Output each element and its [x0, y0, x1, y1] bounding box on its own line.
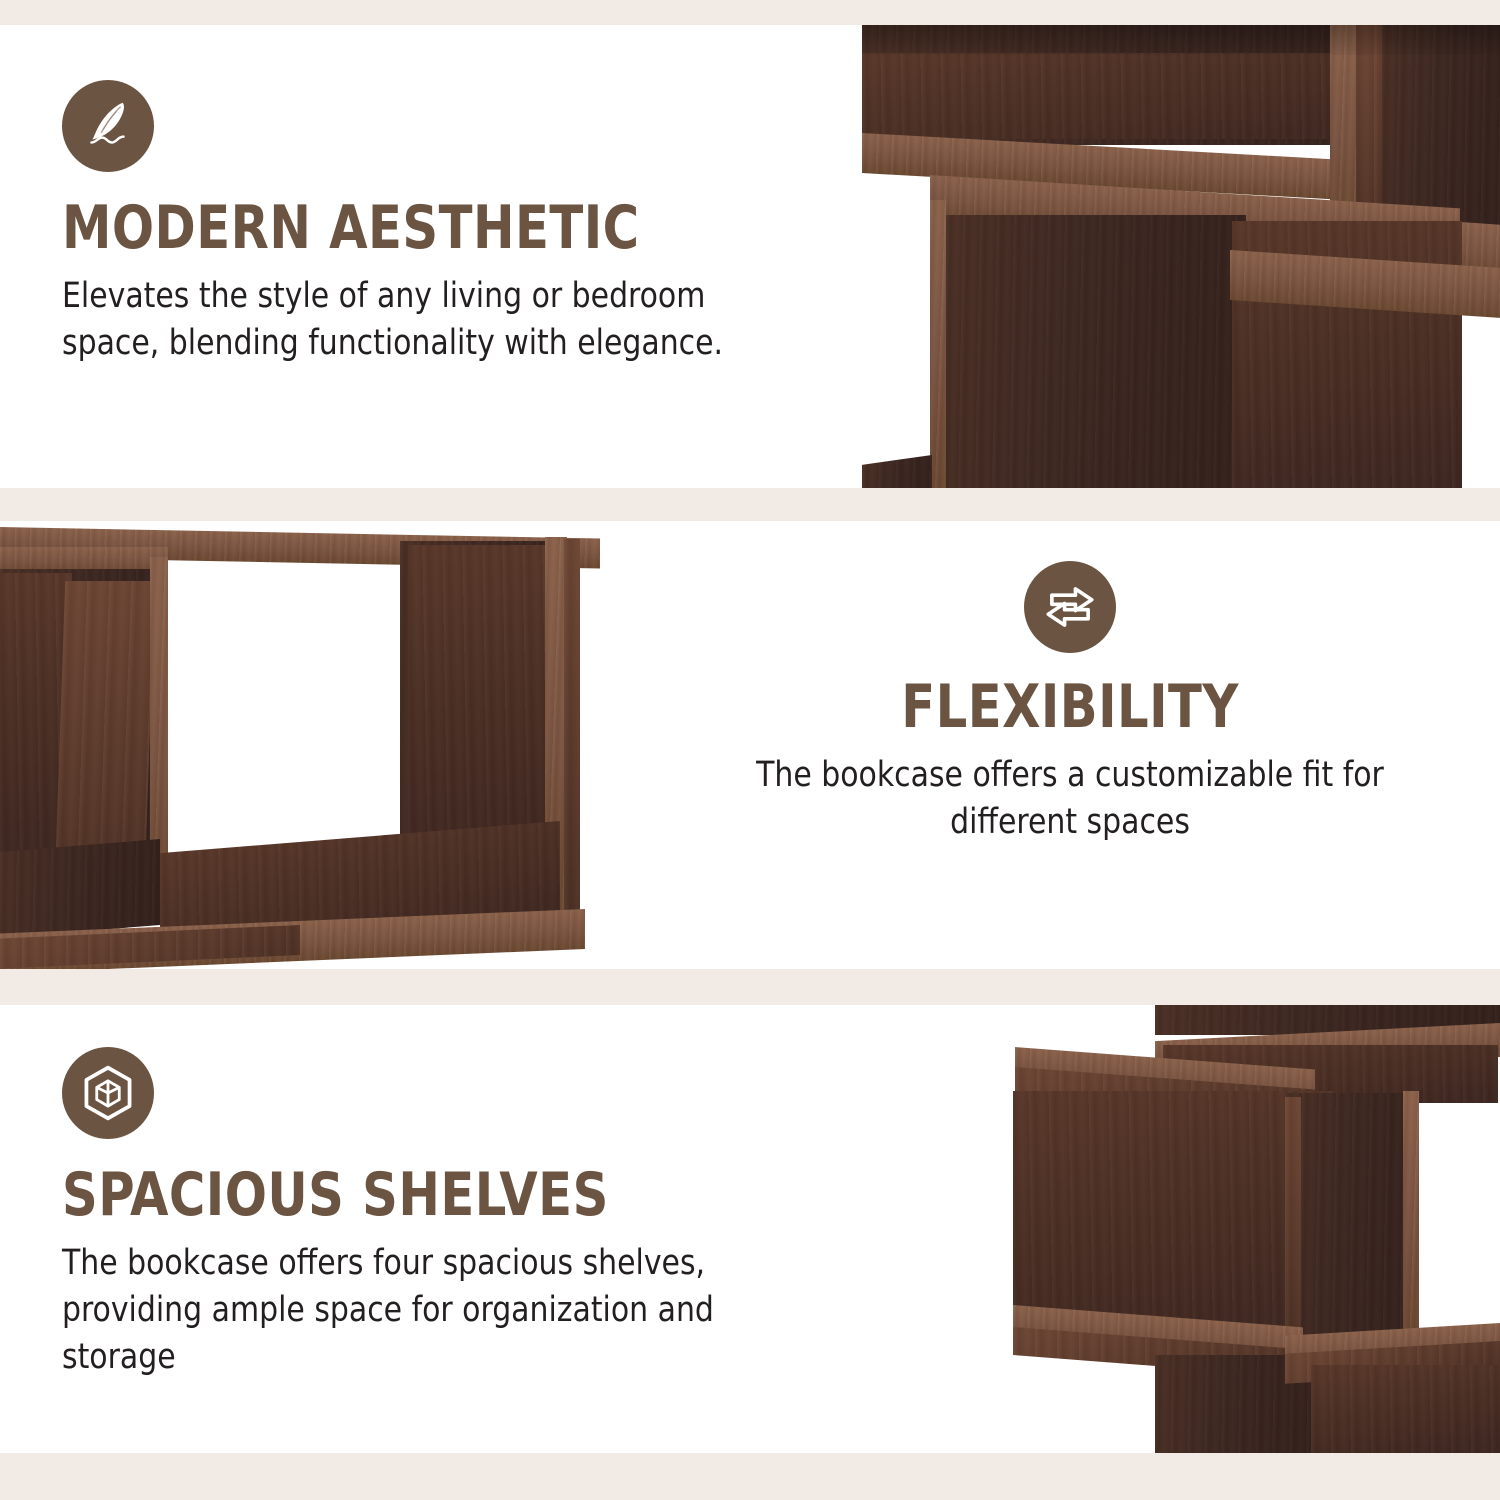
- separator-band-bottom: [0, 1453, 1500, 1500]
- feature-panel-modern-aesthetic: MODERN AESTHETIC Elevates the style of a…: [0, 25, 1500, 488]
- feature-title: MODERN AESTHETIC: [62, 198, 780, 259]
- feature-text-spacious-shelves: SPACIOUS SHELVES The bookcase offers fou…: [62, 1047, 802, 1381]
- feature-title: FLEXIBILITY: [730, 677, 1411, 738]
- feature-title: SPACIOUS SHELVES: [62, 1165, 743, 1226]
- double-arrow-exchange-icon: [1024, 561, 1116, 653]
- feature-text-modern-aesthetic: MODERN AESTHETIC Elevates the style of a…: [62, 80, 842, 367]
- double-arrow-exchange-icon-wrapper: [1024, 561, 1116, 653]
- separator-band-top: [0, 0, 1500, 25]
- hexagon-cube-icon-wrapper: [62, 1047, 802, 1139]
- infographic-page: MODERN AESTHETIC Elevates the style of a…: [0, 0, 1500, 1500]
- product-photo-top-shelf: [862, 25, 1500, 488]
- product-photo-open-cube: [0, 521, 600, 969]
- separator-band-2: [0, 969, 1500, 1005]
- separator-band-1: [0, 488, 1500, 521]
- feather-quill-icon: [62, 80, 154, 172]
- feature-panel-spacious-shelves: SPACIOUS SHELVES The bookcase offers fou…: [0, 1005, 1500, 1453]
- feature-description: The bookcase offers four spacious shelve…: [62, 1240, 765, 1381]
- hexagon-cube-icon: [62, 1047, 154, 1139]
- feature-description: Elevates the style of any living or bedr…: [62, 273, 803, 367]
- feather-quill-icon-wrapper: [62, 80, 842, 172]
- feature-text-flexibility: FLEXIBILITY The bookcase offers a custom…: [700, 561, 1440, 846]
- feature-panel-flexibility: FLEXIBILITY The bookcase offers a custom…: [0, 521, 1500, 969]
- product-photo-staggered-shelves: [955, 1005, 1500, 1453]
- feature-description: The bookcase offers a customizable fit f…: [719, 752, 1422, 846]
